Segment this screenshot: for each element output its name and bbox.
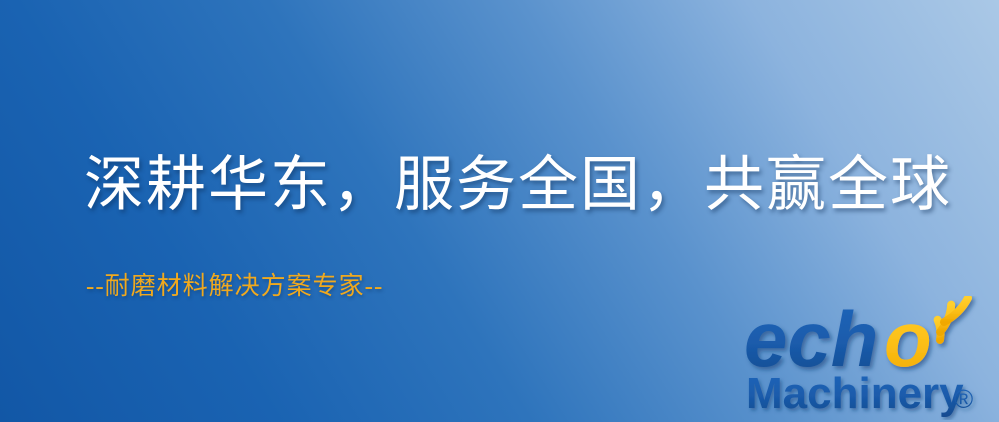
- registered-trademark-icon: ®: [954, 384, 973, 414]
- logo-text-ech: ech: [744, 296, 878, 378]
- logo-text-o: o: [884, 296, 932, 378]
- page-subtitle: --耐磨材料解决方案专家--: [86, 266, 383, 302]
- signal-waves-icon: [934, 298, 968, 340]
- logo-tagline-machinery: Machinery ®: [746, 368, 998, 420]
- company-logo[interactable]: ech o Machinery ®: [744, 296, 999, 422]
- page-title: 深耕华东，服务全国，共赢全球: [84, 152, 952, 219]
- logo-wordmark-echo: ech o: [744, 296, 994, 378]
- hero-banner: 深耕华东，服务全国，共赢全球 --耐磨材料解决方案专家--: [0, 0, 999, 422]
- logo-tagline-text: Machinery: [746, 369, 964, 418]
